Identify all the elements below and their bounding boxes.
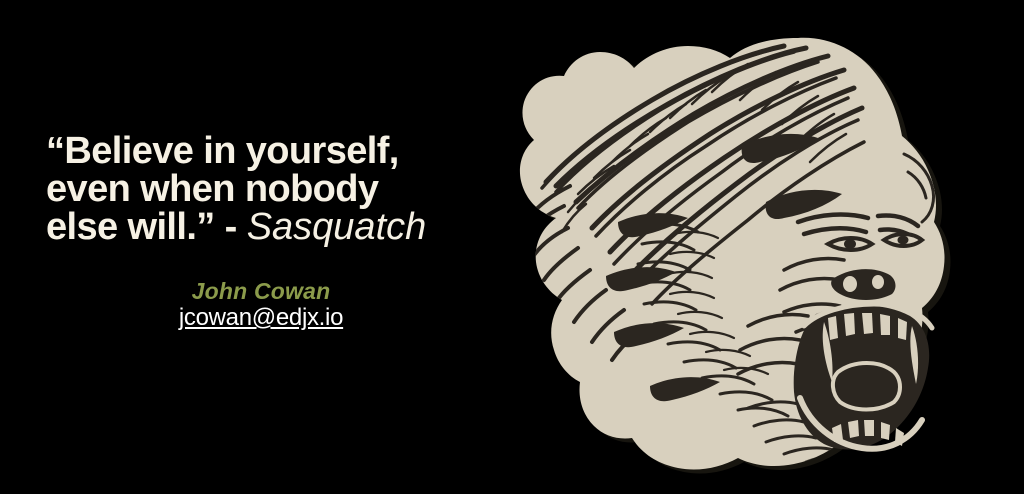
speaker-block: John Cowan jcowan@edjx.io bbox=[46, 278, 476, 332]
quote-block: “Believe in yourself, even when nobody e… bbox=[46, 132, 476, 246]
quote-text: “Believe in yourself, even when nobody e… bbox=[46, 132, 476, 246]
quote-attribution-name: Sasquatch bbox=[247, 206, 427, 248]
speaker-name: John Cowan bbox=[46, 278, 476, 304]
sasquatch-mouth bbox=[794, 304, 932, 449]
slide-canvas: “Believe in yourself, even when nobody e… bbox=[0, 0, 1024, 494]
sasquatch-head-icon bbox=[498, 26, 968, 486]
speaker-email-link[interactable]: jcowan@edjx.io bbox=[46, 304, 476, 332]
